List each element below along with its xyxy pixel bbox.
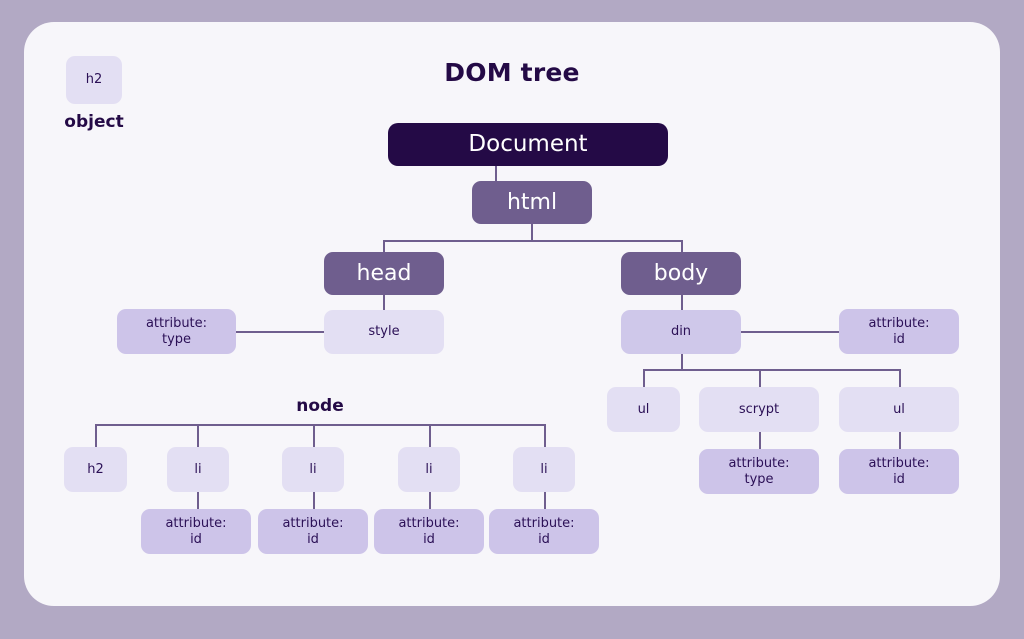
node-head[interactable]: head xyxy=(324,252,444,295)
edge-html-stem xyxy=(531,224,533,241)
node-li-4[interactable]: li xyxy=(513,447,575,492)
edge-din-ul1 xyxy=(643,369,645,388)
node-scrypt[interactable]: scrypt xyxy=(699,387,819,432)
node-attribute-id-din[interactable]: attribute: id xyxy=(839,309,959,354)
node-attribute-id-li-2[interactable]: attribute: id xyxy=(258,509,368,554)
edge-node-li4 xyxy=(544,424,546,448)
node-attribute-id-li-1[interactable]: attribute: id xyxy=(141,509,251,554)
edge-din-bar xyxy=(643,369,900,371)
edge-html-bar xyxy=(383,240,682,242)
node-attribute-type-style[interactable]: attribute: type xyxy=(117,309,236,354)
edge-style-attrtype xyxy=(236,331,325,333)
node-ul-2[interactable]: ul xyxy=(839,387,959,432)
page-title: DOM tree xyxy=(392,58,632,87)
node-style[interactable]: style xyxy=(324,310,444,354)
edge-node-h2 xyxy=(95,424,97,448)
edge-li3-attr xyxy=(429,492,431,510)
edge-ul2-attrid xyxy=(899,432,901,449)
edge-scrypt-attrtype xyxy=(759,432,761,449)
edge-head-style xyxy=(383,295,385,311)
node-attribute-type-scrypt[interactable]: attribute: type xyxy=(699,449,819,494)
node-attribute-id-li-3[interactable]: attribute: id xyxy=(374,509,484,554)
node-document[interactable]: Document xyxy=(388,123,668,166)
node-body[interactable]: body xyxy=(621,252,741,295)
node-din[interactable]: din xyxy=(621,310,741,354)
edge-din-ul2 xyxy=(899,369,901,388)
node-attribute-id-li-4[interactable]: attribute: id xyxy=(489,509,599,554)
legend-object-sample: h2 xyxy=(66,56,122,104)
node-li-1[interactable]: li xyxy=(167,447,229,492)
node-attribute-id-ul2[interactable]: attribute: id xyxy=(839,449,959,494)
edge-li4-attr xyxy=(544,492,546,510)
edge-node-li1 xyxy=(197,424,199,448)
node-li-2[interactable]: li xyxy=(282,447,344,492)
edge-din-attrid xyxy=(741,331,840,333)
edge-din-stem xyxy=(681,354,683,370)
edge-li2-attr xyxy=(313,492,315,510)
edge-node-li2 xyxy=(313,424,315,448)
edge-li1-attr xyxy=(197,492,199,510)
node-h2[interactable]: h2 xyxy=(64,447,127,492)
node-ul-1[interactable]: ul xyxy=(607,387,680,432)
node-html[interactable]: html xyxy=(472,181,592,224)
node-li-3[interactable]: li xyxy=(398,447,460,492)
legend-node-label: node xyxy=(250,396,390,416)
edge-node-bar xyxy=(95,424,545,426)
edge-din-scrypt xyxy=(759,369,761,388)
legend-object-label: object xyxy=(44,112,144,132)
dom-tree-diagram: DOM tree h2 object Document html head bo… xyxy=(0,0,1024,639)
edge-node-li3 xyxy=(429,424,431,448)
edge-body-din xyxy=(681,295,683,311)
edge-document-html xyxy=(495,166,497,182)
